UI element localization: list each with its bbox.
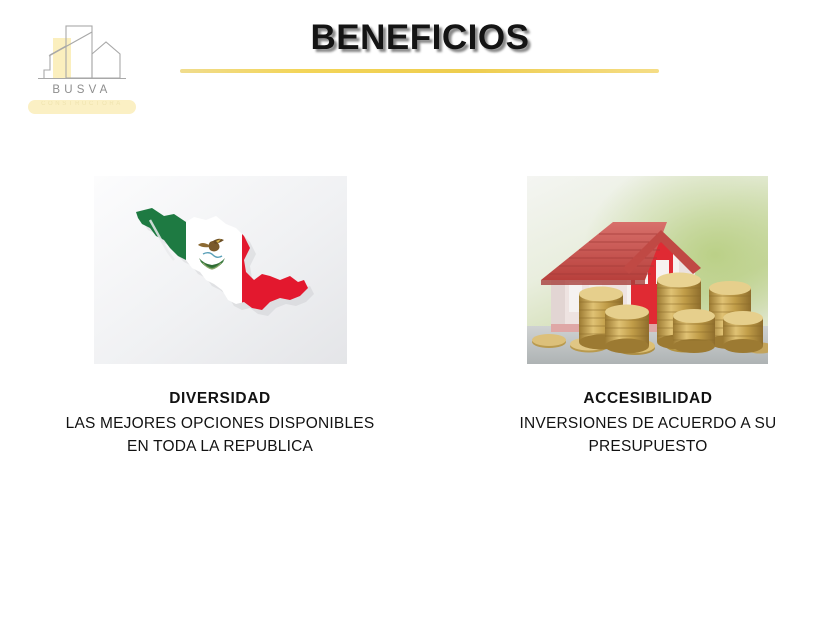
brand-name: BUSVA — [22, 84, 142, 96]
brand-tagline: CONSTRUCTORA — [28, 101, 136, 107]
title-underline-divider — [180, 69, 659, 73]
caption-body-line-2: PRESUPUESTO — [462, 435, 834, 458]
caption-accesibilidad: ACCESIBILIDAD INVERSIONES DE ACUERDO A S… — [462, 389, 834, 458]
caption-body-line-1: LAS MEJORES OPCIONES DISPONIBLES — [18, 412, 422, 435]
page-title: BENEFICIOS — [0, 18, 840, 58]
coin-stack-d — [605, 305, 649, 354]
house-with-coin-stacks-image — [527, 176, 768, 364]
brand-tagline-pill: CONSTRUCTORA — [28, 100, 136, 114]
house-coins-illustration — [527, 176, 768, 364]
caption-heading: ACCESIBILIDAD — [462, 389, 834, 409]
caption-body-line-1: INVERSIONES DE ACUERDO A SU — [462, 412, 834, 435]
caption-diversidad: DIVERSIDAD LAS MEJORES OPCIONES DISPONIB… — [18, 389, 422, 458]
caption-heading: DIVERSIDAD — [18, 389, 422, 409]
caption-body-line-2: EN TODA LA REPUBLICA — [18, 435, 422, 458]
coin-stack-f — [723, 311, 763, 353]
mexico-map-flag-image — [94, 176, 347, 364]
coin-stack-e — [673, 309, 715, 353]
mexico-map-shape — [94, 176, 347, 364]
